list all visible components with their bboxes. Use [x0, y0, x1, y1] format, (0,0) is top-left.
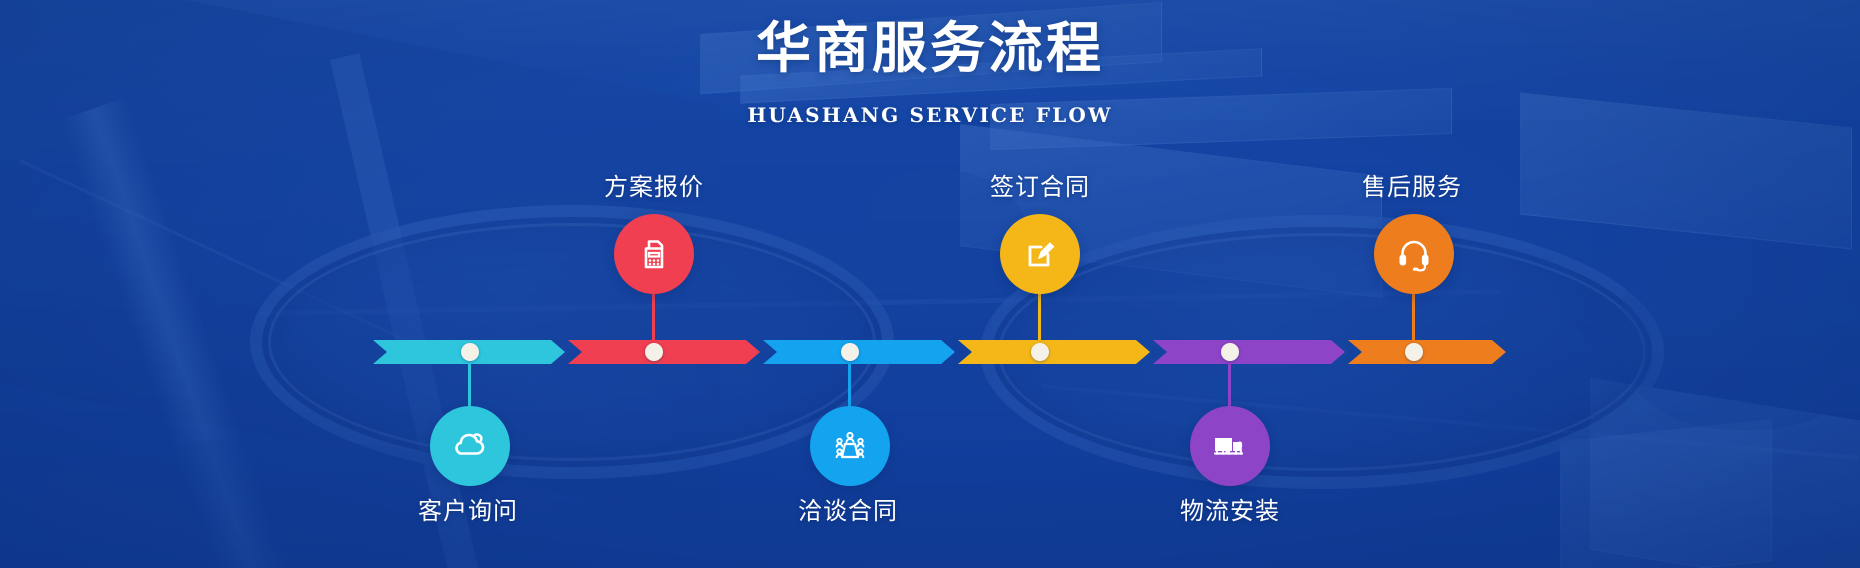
- flow-caption-3: 洽谈合同: [748, 496, 948, 526]
- flow-arrow-2: [568, 340, 760, 364]
- delivery-truck-icon: [1208, 424, 1252, 468]
- flow-stem-4: [1038, 292, 1041, 350]
- service-flow-banner: 华商服务流程 HUASHANG SERVICE FLOW 客户询问: [0, 0, 1860, 568]
- flow-stem-2: [652, 292, 655, 350]
- flow-node-dot-5: [1221, 343, 1239, 361]
- flow-arrow-2-body: [568, 340, 760, 364]
- flow-arrow-5: [1153, 340, 1345, 364]
- flow-stem-6: [1412, 292, 1415, 350]
- meeting-table-icon: [828, 424, 872, 468]
- flow-node-dot-4: [1031, 343, 1049, 361]
- flow-stem-3: [848, 352, 851, 412]
- flow-arrow-6-body: [1348, 340, 1506, 364]
- flow-arrow-6: [1348, 340, 1506, 364]
- flow-caption-5: 物流安装: [1130, 496, 1330, 526]
- flow-node-dot-6: [1405, 343, 1423, 361]
- flow-node-dot-2: [645, 343, 663, 361]
- flow-icon-bubble-1[interactable]: [430, 406, 510, 486]
- flow-icon-bubble-4[interactable]: [1000, 214, 1080, 294]
- flow-icon-bubble-3[interactable]: [810, 406, 890, 486]
- flow-arrow-3-body: [763, 340, 955, 364]
- flow-caption-1: 客户询问: [368, 496, 568, 526]
- flow-stem-1: [468, 352, 471, 412]
- flow-arrow-4-body: [958, 340, 1150, 364]
- flow-icon-bubble-2[interactable]: [614, 214, 694, 294]
- flow-arrow-5-body: [1153, 340, 1345, 364]
- flow-node-dot-1: [461, 343, 479, 361]
- calculator-icon: [632, 232, 676, 276]
- flow-node-dot-3: [841, 343, 859, 361]
- flow-arrow-4: [958, 340, 1150, 364]
- flow-caption-6: 售后服务: [1312, 172, 1512, 202]
- flow-stem-5: [1228, 352, 1231, 412]
- flow-caption-2: 方案报价: [554, 172, 754, 202]
- cloud-chat-icon: [448, 424, 492, 468]
- sign-pencil-icon: [1018, 232, 1062, 276]
- flow-caption-4: 签订合同: [940, 172, 1140, 202]
- headset-icon: [1392, 232, 1436, 276]
- flow-arrow-3: [763, 340, 955, 364]
- flow-diagram: 客户询问 方案报价: [0, 0, 1860, 568]
- flow-icon-bubble-5[interactable]: [1190, 406, 1270, 486]
- flow-icon-bubble-6[interactable]: [1374, 214, 1454, 294]
